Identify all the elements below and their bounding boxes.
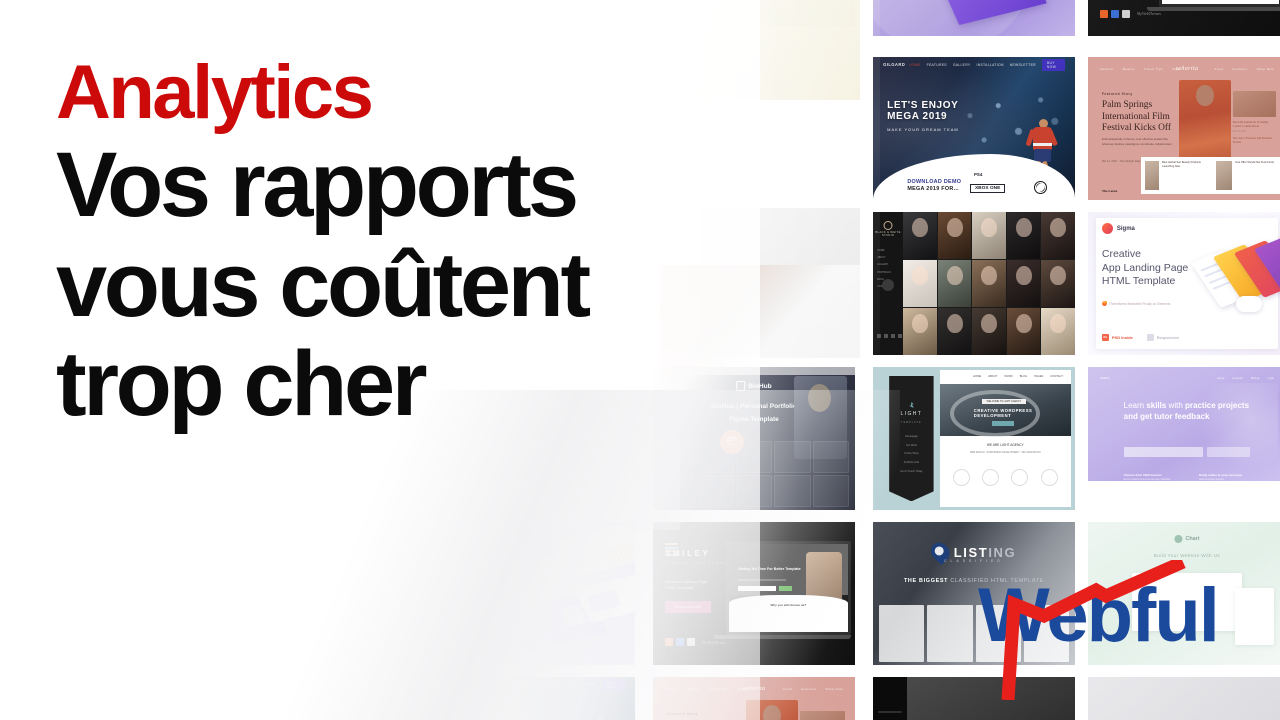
thumb-nav-item[interactable]: INSTALLATION bbox=[537, 683, 564, 687]
thumb-latest-label: The Latest bbox=[1102, 189, 1118, 193]
thumb-footer-2: MEGA 2019 FOR... bbox=[907, 186, 959, 192]
thumb-headline-b: skills bbox=[1146, 401, 1166, 410]
thumb-byline: Mar 12, 2021 · The Lifestyle Daily bbox=[1102, 160, 1141, 163]
thumbnail-faded-behind-4 bbox=[570, 440, 680, 530]
thumb-nav-item[interactable]: Shop Now bbox=[1257, 67, 1274, 71]
kicker-analytics: Analytics bbox=[56, 56, 756, 130]
thumb-subtitle: MAKE YOUR DREAM TEAM bbox=[887, 127, 959, 132]
thumb-nav-item[interactable]: Login bbox=[1267, 376, 1274, 380]
thumb-col-body: Learn anywhere anytime bbox=[1199, 479, 1254, 482]
thumb-section-links: WEB DESIGN · WORDPRESS DEVELOPMENT · SEO… bbox=[955, 452, 1055, 455]
responsive-icon bbox=[1147, 334, 1154, 341]
thumb-menu-item[interactable]: Online Shop bbox=[889, 452, 933, 455]
thumb-nav-item[interactable]: PAGES bbox=[1034, 375, 1043, 378]
thumbnail-senorita[interactable]: Fashion Beauty Travel Tips Style señorit… bbox=[1088, 57, 1280, 200]
headline-block: Analytics Vos rapports vous coûtent trop… bbox=[56, 56, 756, 435]
thumb-signature: MyWebThemes bbox=[1137, 11, 1161, 16]
thumb-nav-item[interactable]: NEWSLETTER bbox=[570, 683, 596, 687]
thumb-download-button[interactable]: DOWNLOAD NOW bbox=[665, 601, 711, 613]
thumb-footer-1: DOWNLOAD DEMO bbox=[907, 179, 961, 185]
thumbnail-faded-behind-5 bbox=[220, 640, 520, 720]
side-thumb bbox=[1233, 91, 1277, 117]
thumb-title-2: MEGA 2019 bbox=[887, 111, 947, 122]
thumbnail-senorita-bottom[interactable]: FashionBeautyTravel TipsStyle señorita F… bbox=[653, 677, 855, 720]
psd-icon: Ps bbox=[1102, 334, 1109, 341]
thumb-platform-2: XBOX ONE bbox=[970, 184, 1005, 193]
thumb-nav-item[interactable]: Pricing bbox=[1251, 376, 1260, 380]
thumbnail-smiley[interactable]: SMILEY LANDING PAGE TEMPLATE Business La… bbox=[653, 522, 855, 665]
thumb-cta-button[interactable]: BUY NOW bbox=[1042, 59, 1065, 71]
poster-canvas: Premium Multipurpose HTML Template Colle… bbox=[0, 0, 1280, 720]
thumb-body: Enthusiastically enhance cost effective … bbox=[1102, 137, 1173, 147]
thumb-logo: Sigma bbox=[1117, 226, 1135, 232]
thumb-card[interactable]: One Offer Should Not Fool Forest bbox=[1235, 161, 1274, 190]
thumbnail-smiley-top[interactable]: MyWebThemes Why you will choose us? bbox=[1088, 0, 1280, 36]
thumb-nav-item[interactable]: Food bbox=[783, 687, 792, 691]
headline-line-2: vous coûtent bbox=[56, 236, 756, 335]
thumb-logo: BLACK & WHITE STUDIO bbox=[873, 231, 903, 237]
thumb-desc-2: HTML Template bbox=[665, 585, 693, 590]
thumb-title-a: LIST bbox=[954, 545, 989, 560]
thumbnail-sigma[interactable]: Sigma Creative App Landing Page HTML Tem… bbox=[1088, 212, 1280, 355]
thumb-title-1: LET'S ENJOY bbox=[887, 100, 958, 111]
soccer-ball-icon bbox=[1034, 181, 1047, 194]
thumb-headline-a: Learn bbox=[1124, 401, 1147, 410]
thumb-nav-item[interactable]: Courses bbox=[1232, 376, 1242, 380]
thumb-logo: LIGHT bbox=[889, 411, 933, 417]
thumb-laptop-headline: Smiley, It's Time For Better Template bbox=[738, 567, 800, 571]
thumb-nav-item[interactable]: Features bbox=[801, 687, 816, 691]
thumb-submit-button[interactable] bbox=[1207, 447, 1251, 457]
thumb-laptop-section: Why you will choose us? bbox=[729, 603, 848, 607]
thumb-nav-item[interactable]: BLOG bbox=[1020, 375, 1027, 378]
thumb-headline-c: with bbox=[1166, 401, 1185, 410]
chart-logo-icon bbox=[1174, 535, 1182, 543]
thumb-badge-2: Responsive bbox=[1157, 335, 1179, 340]
phone-mockups bbox=[1203, 241, 1280, 310]
page-title: Vos rapports vous coûtent trop cher bbox=[56, 136, 756, 434]
thumb-title: SMILEY bbox=[665, 549, 710, 558]
thumb-menu-item[interactable]: Get In Touch Today bbox=[889, 470, 933, 473]
thumb-nav-item[interactable]: FEATURES bbox=[927, 63, 947, 67]
thumbnail-photogrid[interactable]: BLACK & WHITE STUDIO HOMEABOUT GALLERYPO… bbox=[873, 212, 1075, 355]
thumb-desc-1: Business Landing Page bbox=[665, 579, 707, 584]
light-bolt-icon bbox=[909, 402, 914, 408]
thumb-kicker: Featured Story bbox=[667, 713, 698, 716]
thumbnail-showcase-top[interactable]: Premium Multipurpose HTML Template Colle… bbox=[873, 0, 1075, 36]
thumb-side-story[interactable]: The Top 5 Flowers and Pendant Trends bbox=[1233, 136, 1277, 144]
thumb-menu-item[interactable]: Homepage bbox=[889, 435, 933, 438]
thumb-laptop-button[interactable] bbox=[779, 586, 792, 591]
thumb-nav-item[interactable]: ABOUT bbox=[988, 375, 997, 378]
sigma-logo-icon bbox=[1102, 223, 1113, 234]
thumb-nav-item[interactable]: Home bbox=[1217, 376, 1224, 380]
headline-line-1: Vos rapports bbox=[56, 136, 756, 235]
thumb-signature: MyWebThemes bbox=[702, 640, 726, 645]
thumb-nav-item[interactable]: GALLERY bbox=[953, 63, 971, 67]
webful-logo[interactable]: Webful bbox=[978, 560, 1278, 700]
thumb-title-2: App Landing Page bbox=[1102, 262, 1188, 276]
thumb-logo: skills bbox=[1100, 376, 1110, 380]
thumb-badge-1: PSD Inside bbox=[1112, 335, 1133, 340]
thumb-title-1: Creative bbox=[1102, 248, 1188, 262]
thumb-menu-item[interactable]: Our Work bbox=[889, 444, 933, 447]
thumbnail-football[interactable]: GILGARD HOME FEATURES GALLERY INSTALLATI… bbox=[873, 57, 1075, 200]
thumb-nav-item[interactable]: WORK bbox=[1004, 375, 1012, 378]
thumb-tagline: Premium Multipurpose HTML Template Colle… bbox=[449, 542, 518, 547]
thumb-nav-item[interactable]: CONTACT bbox=[1050, 375, 1063, 378]
thumb-hero-title: CREATIVE WORDPRESS DEVELOPMENT bbox=[974, 408, 1071, 418]
thumb-title-3: HTML Template bbox=[1102, 275, 1188, 289]
thumb-tagline-a: THE BIGGEST bbox=[904, 578, 950, 584]
thumb-nav-item[interactable]: HOME bbox=[909, 63, 920, 67]
thumb-section-title: WE ARE LIGHT AGENCY bbox=[940, 443, 1071, 447]
thumb-side-story[interactable]: Rural Byzantine & Trending Cyclist Colla… bbox=[1233, 120, 1277, 128]
thumb-nav-item[interactable]: HOME bbox=[973, 375, 981, 378]
thumb-subtitle: Themeforest Bestseller Finally on Elemen… bbox=[1109, 302, 1170, 306]
thumb-menu-item[interactable]: Portfolio Grid bbox=[889, 461, 933, 464]
thumb-pill: WELCOME TO LIGHT AGENCY bbox=[982, 399, 1027, 404]
thumb-col-title: Choose from 1000 lessons bbox=[1124, 473, 1179, 477]
thumb-hero-button[interactable] bbox=[992, 421, 1014, 426]
thumb-title-b: ING bbox=[988, 545, 1016, 560]
thumb-card[interactable]: Best Herbal Sun Beauty Products Launchin… bbox=[1162, 161, 1211, 190]
thumb-nav-item[interactable]: Features bbox=[1232, 67, 1247, 71]
thumbnail-learnskills[interactable]: skills Home Courses Pricing Login Learn … bbox=[1088, 367, 1280, 510]
thumb-email-input[interactable] bbox=[1124, 447, 1203, 457]
thumb-headline: Palm Springs International Film Festival… bbox=[1102, 100, 1185, 135]
thumb-col-title: Study online in your own pace bbox=[1199, 473, 1254, 477]
thumb-platform-1: PS4 bbox=[974, 172, 982, 177]
thumb-col-body: Expert curated content across every disc… bbox=[1124, 479, 1179, 482]
thumb-cta-button[interactable]: BUY NOW bbox=[602, 679, 625, 691]
fire-icon bbox=[1102, 301, 1107, 306]
thumb-logo: GILGARD bbox=[883, 62, 905, 67]
thumb-nav-item[interactable]: INSTALLATION bbox=[977, 63, 1004, 67]
thumb-nav-item[interactable]: Shop Now bbox=[825, 687, 842, 691]
thumb-logo: Chart bbox=[1185, 536, 1199, 542]
thumb-nav-item[interactable]: Food bbox=[1215, 67, 1224, 71]
thumb-kicker: Featured Story bbox=[1102, 93, 1133, 96]
thumbnail-light[interactable]: LIGHT TEMPLATE Homepage Our Work Online … bbox=[873, 367, 1075, 510]
thumb-sublogo: TEMPLATE bbox=[889, 421, 933, 424]
thumb-laptop-input[interactable] bbox=[738, 586, 776, 591]
thumb-headline: Build Your Website With Us bbox=[1088, 553, 1280, 558]
thumb-nav-item[interactable]: NEWSLETTER bbox=[1010, 63, 1036, 67]
headline-line-3: trop cher bbox=[56, 335, 756, 434]
red-chart-line-icon bbox=[978, 560, 1278, 700]
